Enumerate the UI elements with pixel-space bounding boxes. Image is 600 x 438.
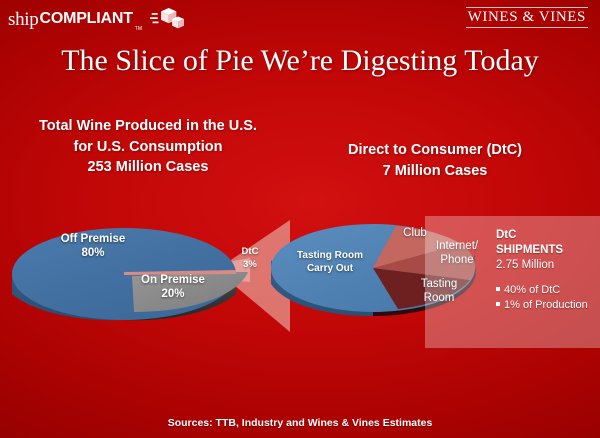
dtc-shipments-bullet-1-text: 40% of DtC — [504, 284, 560, 296]
dtc-shipments-line1: DtC — [496, 228, 598, 243]
left-heading-line1: Total Wine Produced in the U.S. — [18, 116, 278, 137]
right-chart-heading: Direct to Consumer (DtC) 7 Million Cases — [300, 140, 570, 181]
dtc-shipments-panel-content: DtC SHIPMENTS 2.75 Million 40% of DtC 1%… — [496, 228, 598, 314]
left-chart-heading: Total Wine Produced in the U.S. for U.S.… — [18, 116, 278, 178]
left-pie-chart — [8, 212, 258, 344]
dtc-slice-label-name: DtC — [230, 246, 270, 259]
dtc-slice-label-value: 3% — [230, 259, 270, 272]
sources-footnote: Sources: TTB, Industry and Wines & Vines… — [0, 417, 600, 429]
logo-trademark: TM — [135, 26, 142, 32]
wines-and-vines-logo: WINES & VINES — [466, 7, 588, 28]
dtc-shipments-bullet-2-text: 1% of Production — [504, 299, 588, 311]
dtc-shipments-bullet-2: 1% of Production — [496, 298, 598, 314]
dtc-shipments-line3: 2.75 Million — [496, 258, 598, 273]
right-heading-line2: 7 Million Cases — [300, 161, 570, 182]
bullet-square-icon — [496, 287, 500, 291]
slide-canvas: ship COMPLIANT TM WINES & VINES — [0, 0, 600, 438]
shipcompliant-logo: ship COMPLIANT TM — [8, 5, 184, 33]
left-heading-line3: 253 Million Cases — [18, 157, 278, 178]
left-heading-line2: for U.S. Consumption — [18, 137, 278, 158]
shipping-box-icon — [150, 5, 184, 33]
right-heading-line1: Direct to Consumer (DtC) — [300, 140, 570, 161]
dtc-shipments-bullets: 40% of DtC 1% of Production — [496, 283, 598, 315]
wines-and-vines-label: WINES & VINES — [466, 7, 588, 28]
page-title: The Slice of Pie We’re Digesting Today — [0, 44, 600, 78]
dtc-shipments-bullet-1: 40% of DtC — [496, 283, 598, 299]
dtc-slice-label: DtC 3% — [230, 246, 270, 272]
logo-word-ship: ship — [8, 10, 38, 29]
dtc-shipments-line2: SHIPMENTS — [496, 243, 598, 258]
bullet-square-icon — [496, 302, 500, 306]
logo-word-compliant: COMPLIANT — [39, 11, 132, 27]
